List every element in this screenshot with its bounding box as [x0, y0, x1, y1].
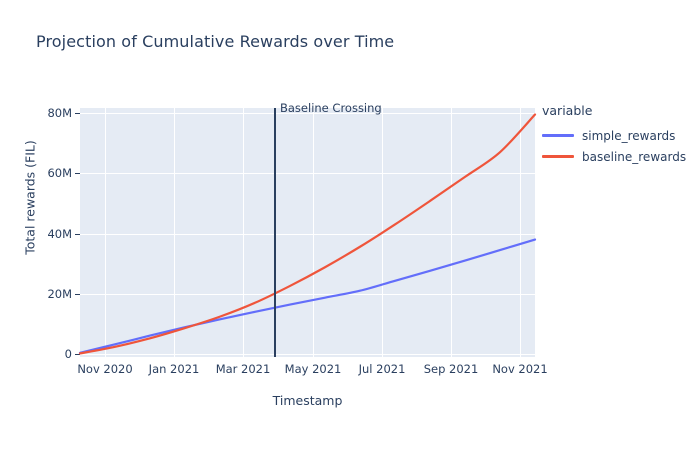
- legend-item-simple-rewards[interactable]: simple_rewards: [542, 125, 692, 146]
- legend-swatch-simple-rewards: [542, 134, 574, 137]
- series-layer: [0, 0, 700, 450]
- baseline-crossing-vline: [274, 108, 276, 357]
- baseline-crossing-label: Baseline Crossing: [276, 101, 382, 115]
- legend: variable simple_rewards baseline_rewards: [542, 103, 692, 167]
- legend-item-baseline-rewards[interactable]: baseline_rewards: [542, 146, 692, 167]
- legend-label-baseline-rewards: baseline_rewards: [582, 150, 686, 164]
- series-line-simple-rewards: [80, 240, 535, 353]
- plotly-figure: Projection of Cumulative Rewards over Ti…: [0, 0, 700, 450]
- legend-label-simple-rewards: simple_rewards: [582, 129, 675, 143]
- series-line-baseline-rewards: [80, 115, 535, 354]
- legend-title: variable: [542, 103, 692, 118]
- legend-swatch-baseline-rewards: [542, 155, 574, 158]
